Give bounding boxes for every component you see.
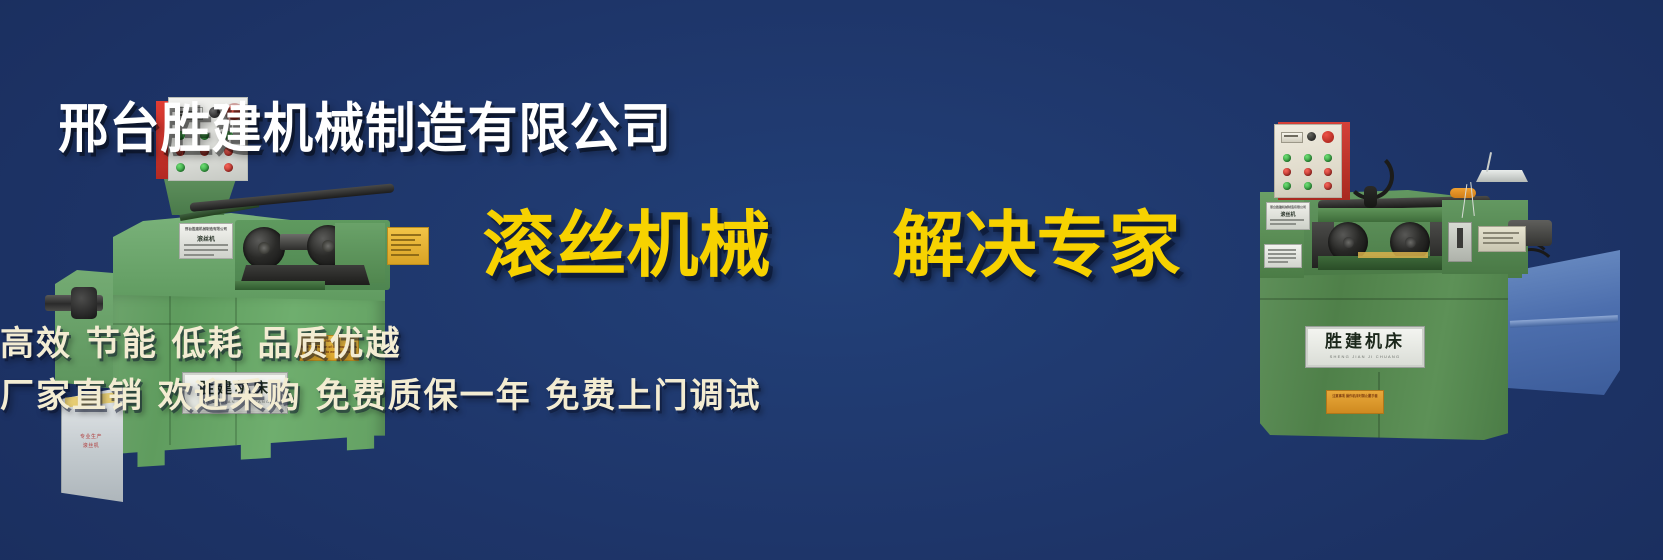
slogan-features: 高效 节能 低耗 品质优越 [0, 323, 1663, 365]
machine-left-shaft-hub [71, 287, 97, 319]
headline-solution: 解决专家 [893, 206, 1181, 284]
slogan-services: 厂家直销 欢迎采购 免费质保一年 免费上门调试 [0, 375, 1663, 417]
headline-group: 滚丝机械 解决专家 [0, 206, 1663, 284]
machine-left-panel-seam [169, 295, 171, 445]
machine-right-indicator-button [1283, 168, 1291, 176]
machine-left-indicator-button [176, 163, 185, 172]
machine-right-indicator-button [1304, 168, 1312, 176]
headline-product: 滚丝机械 [482, 206, 770, 284]
machine-right-tool-fixture [1476, 170, 1528, 182]
machine-right-indicator-button [1324, 182, 1332, 190]
machine-right-indicator-button [1324, 168, 1332, 176]
machine-left-panel-seam [235, 295, 237, 445]
machine-right-cable-connector [1364, 186, 1377, 208]
machine-left-cabinet-text: 专业生产滚丝机 [65, 433, 117, 451]
machine-right-indicator-button [1283, 182, 1291, 190]
machine-right-indicator-button [1304, 182, 1312, 190]
promo-banner: 邢台胜建机械制造有限公司 滚丝机 Note Note: Operation of… [0, 0, 1663, 560]
machine-left-indicator-button [224, 163, 233, 172]
company-name-heading: 邢台胜建机械制造有限公司 [58, 99, 1605, 159]
machine-left-indicator-button [200, 163, 209, 172]
